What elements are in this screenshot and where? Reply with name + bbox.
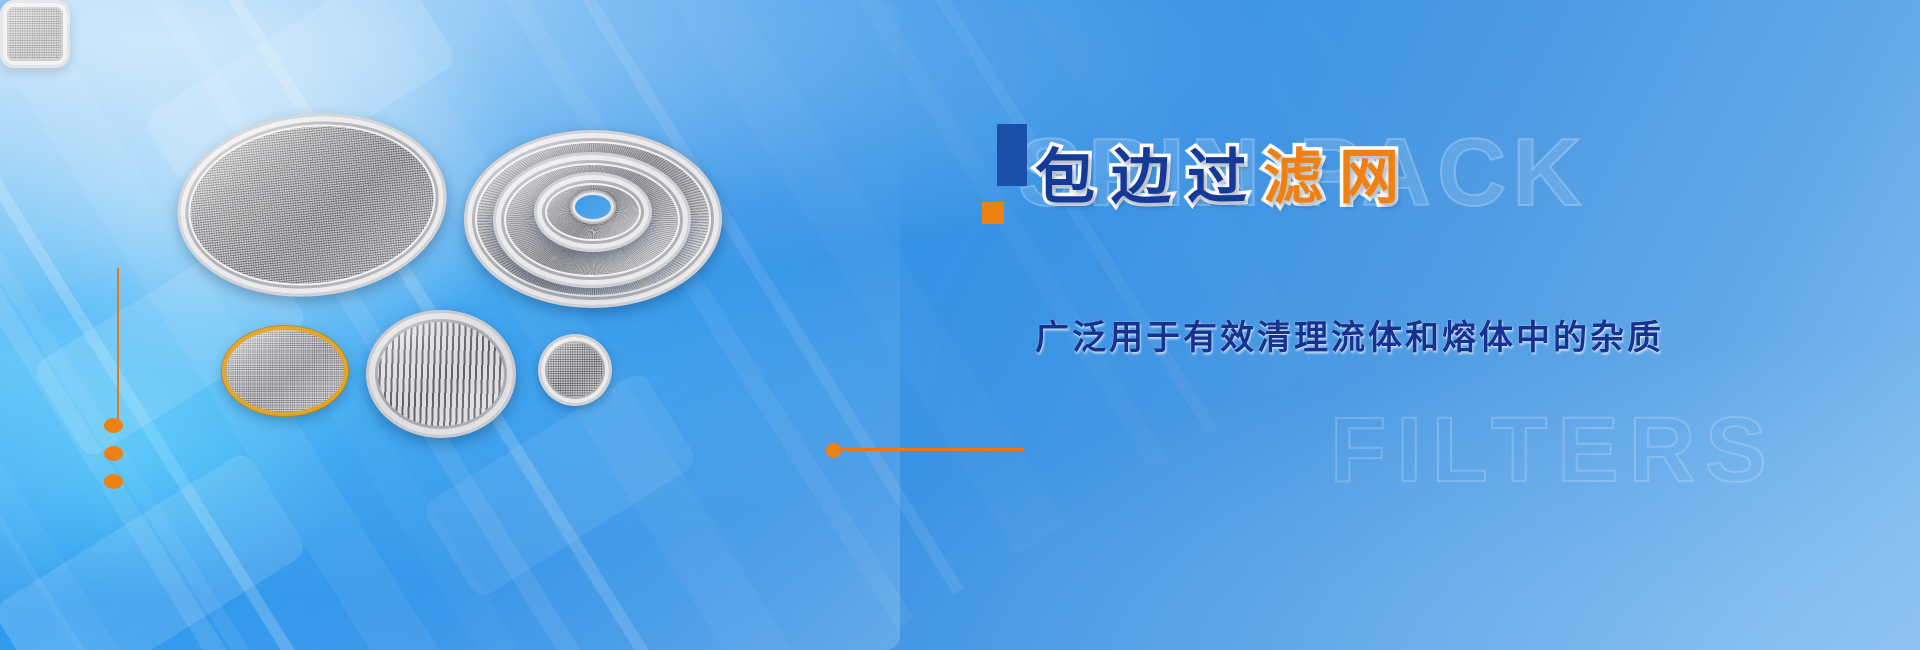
- filter-products-group: [0, 0, 900, 650]
- square-mesh-filter: [0, 0, 70, 68]
- pleated-filter-disc: [366, 310, 516, 438]
- left-dot-2: [104, 446, 123, 461]
- large-mesh-filter-disc: [168, 100, 456, 309]
- page-title: 包边过滤网: [1035, 148, 1415, 208]
- small-mesh-disc: [538, 334, 612, 406]
- bottom-accent-rule: [826, 440, 1026, 460]
- headline-orange-part: 滤网: [1263, 148, 1415, 208]
- headline-blue-part: 包边过: [1035, 148, 1263, 208]
- accent-rule-bar: [837, 448, 1024, 451]
- page-subtitle: 广泛用于有效清理流体和熔体中的杂质: [1035, 310, 1664, 359]
- accent-blue-square: [997, 124, 1027, 186]
- gold-disc-gloss: [226, 330, 344, 412]
- left-dot-group: [104, 418, 132, 496]
- gold-rimmed-mesh-disc: [222, 326, 348, 416]
- accent-orange-square: [982, 202, 1004, 224]
- product-hero-banner: SPIN PACK FILTERS 包边过滤网 广泛用于有效清理流体和熔体中的杂…: [0, 0, 1920, 650]
- left-vertical-line: [117, 268, 119, 420]
- left-dot-3: [104, 474, 123, 489]
- left-dot-1: [104, 418, 123, 433]
- disc-gloss: [172, 104, 453, 307]
- pleated-disc-gloss: [369, 313, 513, 435]
- concentric-ring-filter-bore: [570, 190, 616, 224]
- small-disc-gloss: [541, 337, 609, 403]
